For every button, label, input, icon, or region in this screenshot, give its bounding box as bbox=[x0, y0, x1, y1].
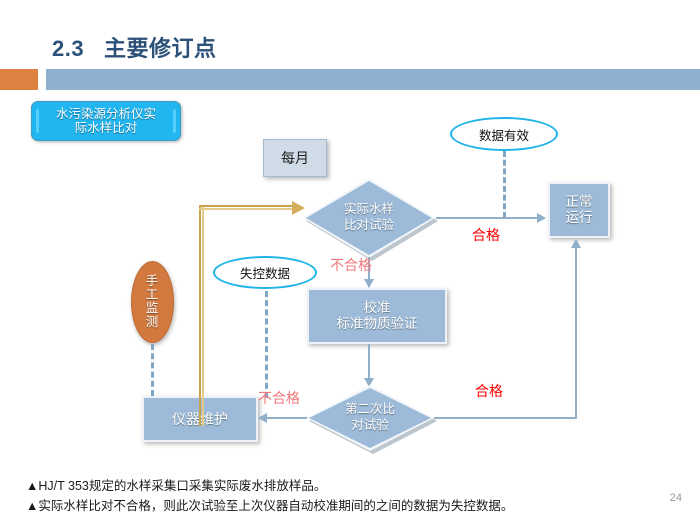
node-calibration-verification: 校准 标准物质验证 bbox=[307, 288, 447, 344]
page-title: 2.3 主要修订点 bbox=[52, 31, 216, 63]
connector-out-of-control-dashed bbox=[265, 291, 268, 398]
footnote-1: ▲HJ/T 353规定的水样采集口采集实际废水排放样品。 bbox=[26, 475, 326, 494]
connector-pass-to-normal bbox=[436, 217, 538, 219]
page-number: 24 bbox=[670, 492, 682, 504]
connector-manual-to-maintenance-dashed bbox=[151, 344, 154, 396]
node-data-valid-label: 数据有效 bbox=[479, 125, 529, 144]
node-monthly-trigger-label: 每月 bbox=[281, 150, 309, 167]
node-out-of-control-data: 失控数据 bbox=[213, 256, 317, 289]
node-first-comparison-test: 实际水样 比对试验 bbox=[303, 178, 435, 258]
connector-retest-loop-horizontal-hl bbox=[199, 208, 294, 210]
node-monthly-trigger: 每月 bbox=[263, 139, 327, 177]
connector-second-fail-arrowhead bbox=[258, 413, 267, 423]
node-manual-monitoring: 手 工 监 测 bbox=[131, 261, 174, 343]
footnote-2: ▲实际水样比对不合格，则此次试验至上次仪器自动校准期间的之间的数据为失控数据。 bbox=[26, 495, 513, 514]
title-text: 主要修订点 bbox=[104, 36, 217, 61]
connector-second-pass-vertical bbox=[575, 248, 577, 419]
node-normal-operation: 正常 运行 bbox=[548, 182, 610, 238]
node-manual-monitoring-text: 手 工 监 测 bbox=[146, 274, 160, 329]
edge-label-pass-bottom: 合格 bbox=[475, 381, 503, 401]
node-first-comparison-test-label: 实际水样 比对试验 bbox=[344, 202, 394, 233]
connector-retest-loop-arrowhead bbox=[292, 201, 305, 215]
node-data-valid: 数据有效 bbox=[450, 117, 558, 151]
node-second-comparison-test: 第二次比 对试验 bbox=[306, 385, 434, 451]
node-calibration-verification-label: 校准 标准物质验证 bbox=[337, 300, 418, 332]
section-number: 2.3 bbox=[52, 36, 84, 61]
connector-data-valid-dashed bbox=[503, 151, 506, 218]
header-accent-blue-bar bbox=[46, 69, 700, 90]
callout-label: 水污染源分析仪实 际水样比对 bbox=[32, 102, 180, 140]
connector-pass-to-normal-arrowhead bbox=[537, 213, 546, 223]
connector-retest-loop-vertical bbox=[199, 205, 201, 426]
topic-callout-box: 水污染源分析仪实 际水样比对 bbox=[31, 101, 181, 141]
connector-second-pass-horizontal bbox=[434, 417, 577, 419]
edge-label-pass-top: 合格 bbox=[472, 225, 500, 245]
header-accent-orange-block bbox=[0, 69, 38, 90]
connector-second-pass-arrowhead bbox=[571, 239, 581, 248]
node-second-comparison-test-label: 第二次比 对试验 bbox=[345, 402, 395, 433]
node-normal-operation-label: 正常 运行 bbox=[566, 194, 593, 226]
connector-retest-loop-horizontal bbox=[199, 205, 294, 207]
edge-label-fail-top: 不合格 bbox=[330, 255, 372, 275]
slide-canvas: 2.3 主要修订点 水污染源分析仪实 际水样比对 每月 数据有效 实际水样 比对… bbox=[0, 0, 700, 525]
connector-retest-loop-vertical-hl bbox=[202, 205, 204, 426]
node-manual-monitoring-label: 手 工 监 测 bbox=[146, 275, 160, 329]
edge-label-fail-bottom: 不合格 bbox=[258, 388, 300, 408]
node-out-of-control-data-label: 失控数据 bbox=[240, 263, 290, 282]
connector-fail-to-calibration-arrowhead bbox=[364, 279, 374, 288]
